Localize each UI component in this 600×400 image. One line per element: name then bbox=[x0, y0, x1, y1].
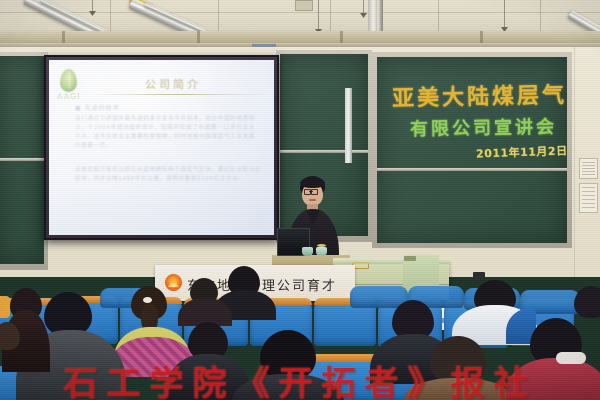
slide-bullet-heading: ■ 先进的技术 bbox=[75, 103, 120, 112]
chalk-line-date: 2011年11月2日 bbox=[476, 142, 568, 161]
slide-title-rule bbox=[97, 94, 265, 95]
lamp-hanger bbox=[318, 0, 319, 30]
slide-title: 公司简介 bbox=[145, 76, 201, 92]
cnpc-sun-logo-icon bbox=[165, 274, 182, 291]
presenter-mouth bbox=[309, 199, 316, 201]
lamp-hanger bbox=[363, 0, 364, 14]
ceiling-seam bbox=[330, 0, 331, 34]
audience-collar bbox=[556, 352, 586, 364]
tea-cup bbox=[316, 247, 327, 256]
water-bottle bbox=[0, 296, 10, 318]
ceiling-seam bbox=[438, 0, 439, 34]
audience-head bbox=[574, 286, 600, 318]
audience-head bbox=[430, 336, 486, 384]
wall-notice bbox=[579, 158, 598, 179]
blackboard-divider bbox=[345, 88, 352, 163]
blackboard-tray-center bbox=[280, 150, 368, 153]
lamp-hanger bbox=[92, 0, 93, 12]
audience-head bbox=[260, 330, 316, 380]
slide-logo-text: AAGI bbox=[57, 92, 81, 101]
wall-sensor-icon bbox=[473, 272, 485, 279]
chalk-line-subtitle: 有限公司宣讲会 bbox=[410, 113, 557, 142]
tea-cup-lid bbox=[317, 244, 326, 247]
ceiling-seam bbox=[540, 0, 541, 34]
ceiling-seam bbox=[218, 0, 219, 34]
presentation-slide: AAGI 公司简介 ■ 先进的技术 我们通过引进国外最先进的多分支水平井技术，结… bbox=[49, 60, 274, 235]
beam-joint bbox=[197, 31, 200, 43]
beam-joint bbox=[340, 31, 343, 43]
projection-screen: AAGI 公司简介 ■ 先进的技术 我们通过引进国外最先进的多分支水平井技术，结… bbox=[44, 55, 279, 240]
blackboard-tray-left bbox=[0, 158, 44, 161]
green-leaf-logo-icon bbox=[60, 69, 77, 92]
presenter-glasses bbox=[304, 189, 318, 193]
audience-shoulders bbox=[506, 358, 600, 400]
ceiling-beam bbox=[0, 31, 600, 43]
hair-tie-icon bbox=[143, 297, 152, 303]
lamp-hanger bbox=[504, 0, 505, 28]
slide-paragraph-1: 我们通过引进国外最先进的多分支水平井技术，结合中国的地质特点，于2004年成功组… bbox=[75, 115, 255, 151]
blackboard-tray-right bbox=[377, 168, 567, 171]
ceiling-seam bbox=[110, 0, 111, 34]
beam-joint bbox=[480, 31, 483, 43]
ceiling-fixture bbox=[295, 0, 313, 11]
classroom-photo: 亚美大陆煤层气 有限公司宣讲会 2011年11月2日 AAGI 公司简介 ■ 先… bbox=[0, 0, 600, 400]
chalk-line-title: 亚美大陆煤层气 bbox=[392, 77, 568, 113]
wall-seam bbox=[574, 47, 575, 277]
wall-notice bbox=[579, 183, 598, 213]
slide-paragraph-2: 亚美目前只有在山西沁水盆地拥有两个煤层气区块，通过区块和马必区块，共计占地145… bbox=[75, 166, 261, 184]
door-latch-icon bbox=[404, 256, 416, 261]
beam-joint bbox=[62, 31, 65, 43]
presenter-fringe bbox=[300, 177, 325, 188]
tea-cup bbox=[302, 247, 313, 256]
blackboard-center bbox=[280, 54, 368, 236]
